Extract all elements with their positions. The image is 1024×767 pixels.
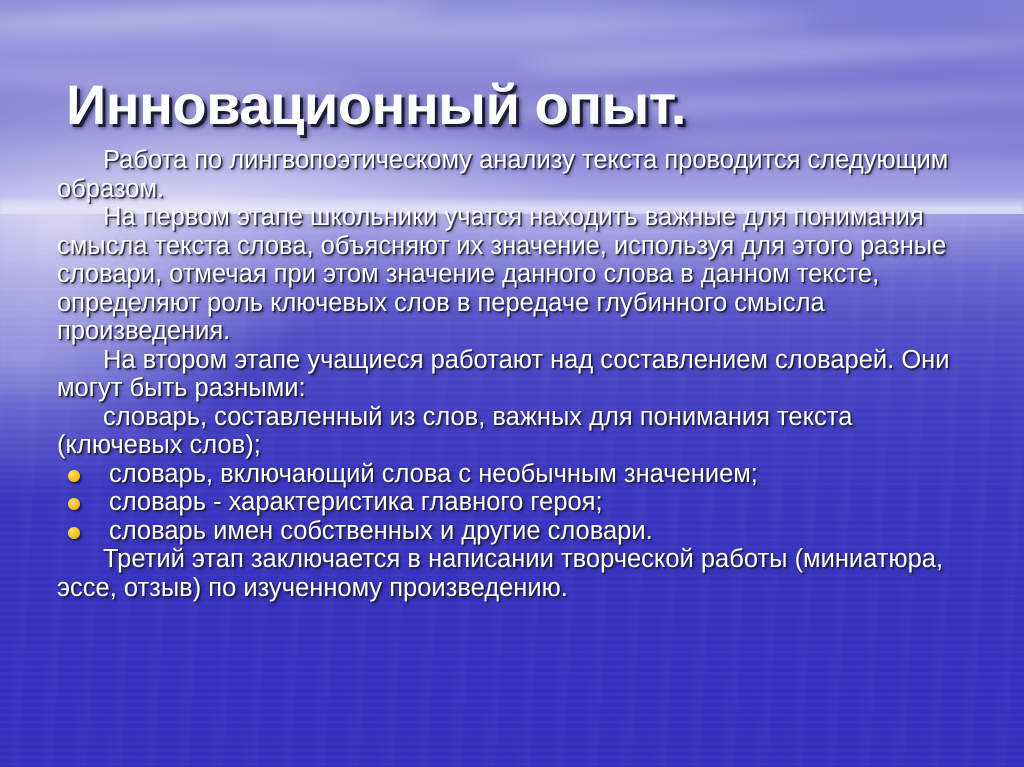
list-item: словарь - характеристика главного героя; [57, 488, 969, 517]
paragraph-intro: Работа по лингвопоэтическому анализу тек… [57, 146, 969, 203]
bullet-dot-icon [68, 470, 80, 482]
list-item-label: словарь - характеристика главного героя; [109, 488, 969, 517]
list-item-label: словарь имен собственных и другие словар… [109, 517, 969, 546]
presentation-slide: Инновационный опыт. Работа по лингвопоэт… [0, 0, 1024, 767]
list-item: словарь имен собственных и другие словар… [57, 517, 969, 546]
list-item-label: словарь, включающий слова с необычным зн… [109, 460, 969, 489]
list-item-unbulleted: словарь, составленный из слов, важных дл… [57, 403, 969, 460]
paragraph-stage-two: На втором этапе учащиеся работают над со… [57, 346, 969, 403]
slide-title: Инновационный опыт. [66, 76, 966, 135]
list-item: словарь, включающий слова с необычным зн… [57, 460, 969, 489]
slide-content: Инновационный опыт. Работа по лингвопоэт… [0, 0, 1024, 767]
dictionary-types-list: словарь, включающий слова с необычным зн… [57, 460, 969, 546]
bullet-dot-icon [68, 527, 80, 539]
bullet-dot-icon [68, 498, 80, 510]
paragraph-stage-three: Третий этап заключается в написании твор… [57, 545, 969, 602]
slide-body: Работа по лингвопоэтическому анализу тек… [57, 146, 969, 602]
paragraph-stage-one: На первом этапе школьники учатся находит… [57, 203, 969, 346]
